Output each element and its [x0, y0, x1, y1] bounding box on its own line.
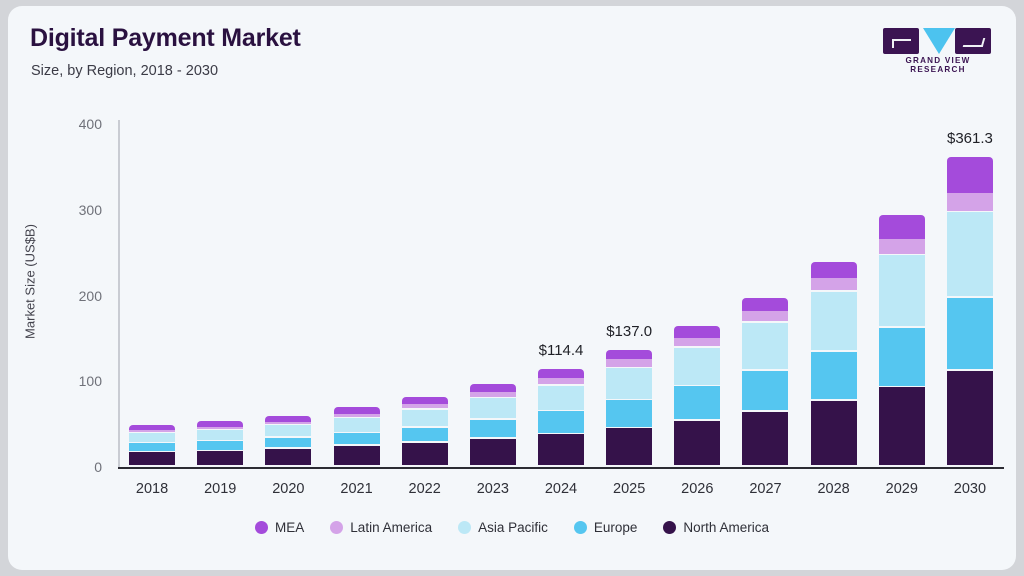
bar-segment[interactable]	[129, 430, 175, 431]
legend-item[interactable]: North America	[663, 520, 769, 535]
stacked-bar[interactable]	[334, 407, 380, 467]
bar-segment[interactable]	[538, 434, 584, 465]
bar-segment[interactable]	[674, 386, 720, 419]
bar-segment[interactable]	[879, 239, 925, 254]
bar-segment[interactable]	[470, 420, 516, 437]
bar-segment[interactable]	[197, 451, 243, 465]
stacked-bar[interactable]	[129, 425, 175, 467]
stacked-bar[interactable]	[879, 215, 925, 467]
bar-segment[interactable]	[197, 427, 243, 429]
stacked-bar[interactable]	[742, 298, 788, 467]
bar-segment[interactable]	[606, 428, 652, 465]
bar-segment[interactable]	[334, 433, 380, 444]
x-axis-tick-label: 2028	[817, 481, 849, 497]
bar-segment[interactable]	[334, 407, 380, 414]
bar-segment[interactable]	[606, 350, 652, 360]
x-axis-tick-label: 2027	[749, 481, 781, 497]
x-axis-tick-label: 2018	[136, 481, 168, 497]
bar-segment[interactable]	[674, 326, 720, 337]
y-axis-tick-label: 400	[46, 116, 102, 132]
bar-segment[interactable]	[606, 368, 652, 398]
bar-value-label: $114.4	[539, 342, 584, 359]
stacked-bar[interactable]	[811, 262, 857, 467]
chart-card: Digital Payment Market Size, by Region, …	[8, 6, 1016, 570]
y-axis-title: Market Size (US$B)	[23, 182, 38, 382]
bar-value-label: $137.0	[606, 323, 652, 340]
bar-segment[interactable]	[129, 433, 175, 442]
y-axis-tick-label: 100	[46, 373, 102, 389]
x-axis-tick-label: 2030	[954, 481, 986, 497]
bar-segment[interactable]	[674, 421, 720, 466]
x-axis-tick-label: 2021	[340, 481, 372, 497]
stacked-bar[interactable]	[265, 416, 311, 467]
bar-segment[interactable]	[265, 425, 311, 436]
y-axis-line	[118, 120, 120, 468]
bar-segment[interactable]	[742, 298, 788, 311]
bar-segment[interactable]	[606, 400, 652, 427]
bar-segment[interactable]	[606, 359, 652, 366]
x-axis-tick-label: 2029	[886, 481, 918, 497]
bar-segment[interactable]	[674, 338, 720, 347]
x-axis-tick-label: 2024	[545, 481, 577, 497]
stacked-bar[interactable]	[402, 397, 448, 467]
bar-segment[interactable]	[947, 212, 993, 296]
bar-segment[interactable]	[674, 348, 720, 385]
bar-segment[interactable]	[879, 387, 925, 465]
bar-segment[interactable]	[947, 298, 993, 369]
y-axis-tick-label: 0	[46, 459, 102, 475]
bar-segment[interactable]	[197, 441, 243, 449]
bar-segment[interactable]	[947, 193, 993, 210]
bar-segment[interactable]	[334, 418, 380, 431]
legend-label: MEA	[275, 520, 304, 535]
bar-segment[interactable]	[265, 449, 311, 465]
bar-segment[interactable]	[811, 262, 857, 277]
bar-segment[interactable]	[538, 369, 584, 378]
bar-segment[interactable]	[879, 255, 925, 326]
bar-value-label: $361.3	[947, 130, 993, 147]
bar-segment[interactable]	[538, 378, 584, 384]
bar-segment[interactable]	[402, 404, 448, 408]
x-axis-tick-label: 2023	[477, 481, 509, 497]
stacked-bar[interactable]	[538, 369, 584, 467]
bar-segment[interactable]	[470, 392, 516, 397]
bar-segment[interactable]	[129, 425, 175, 430]
bar-segment[interactable]	[402, 410, 448, 426]
legend-swatch-icon	[663, 521, 676, 534]
legend-swatch-icon	[330, 521, 343, 534]
bar-segment[interactable]	[538, 386, 584, 410]
legend-item[interactable]: Europe	[574, 520, 638, 535]
bar-segment[interactable]	[470, 384, 516, 392]
y-axis-tick-label: 300	[46, 202, 102, 218]
x-axis-tick-label: 2025	[613, 481, 645, 497]
bar-segment[interactable]	[470, 398, 516, 418]
legend-label: Latin America	[350, 520, 432, 535]
bar-segment[interactable]	[947, 371, 993, 465]
bar-segment[interactable]	[334, 414, 380, 417]
bar-segment[interactable]	[402, 428, 448, 441]
bar-segment[interactable]	[742, 371, 788, 411]
bar-segment[interactable]	[265, 422, 311, 424]
x-axis-tick-label: 2019	[204, 481, 236, 497]
bar-segment[interactable]	[402, 443, 448, 466]
bar-segment[interactable]	[811, 352, 857, 399]
x-axis-tick-label: 2022	[409, 481, 441, 497]
legend-item[interactable]: MEA	[255, 520, 304, 535]
legend-swatch-icon	[458, 521, 471, 534]
bar-segment[interactable]	[334, 446, 380, 465]
x-axis-tick-label: 2026	[681, 481, 713, 497]
legend-label: Europe	[594, 520, 638, 535]
bar-segment[interactable]	[265, 438, 311, 448]
bar-segment[interactable]	[538, 411, 584, 433]
bar-segment[interactable]	[470, 439, 516, 466]
x-axis-tick-label: 2020	[272, 481, 304, 497]
bar-segment[interactable]	[811, 401, 857, 465]
legend-item[interactable]: Asia Pacific	[458, 520, 548, 535]
y-axis-tick-label: 200	[46, 288, 102, 304]
stacked-bar[interactable]	[947, 157, 993, 467]
bar-segment[interactable]	[129, 443, 175, 450]
x-axis-line	[118, 467, 1004, 469]
legend-swatch-icon	[255, 521, 268, 534]
bar-segment[interactable]	[265, 416, 311, 422]
bar-segment[interactable]	[947, 157, 993, 193]
bar-segment[interactable]	[197, 421, 243, 427]
bar-segment[interactable]	[402, 397, 448, 405]
bar-segment[interactable]	[879, 215, 925, 239]
stacked-bar[interactable]	[197, 421, 243, 467]
bar-segment[interactable]	[811, 278, 857, 291]
bar-segment[interactable]	[129, 452, 175, 465]
legend-label: North America	[683, 520, 769, 535]
bar-chart-plot: Market Size (US$B) 0100200300400 2018201…	[8, 6, 1016, 570]
chart-legend: MEALatin AmericaAsia PacificEuropeNorth …	[8, 520, 1016, 535]
bar-segment[interactable]	[742, 311, 788, 321]
bar-segment[interactable]	[879, 328, 925, 386]
legend-label: Asia Pacific	[478, 520, 548, 535]
bar-segment[interactable]	[197, 430, 243, 440]
legend-swatch-icon	[574, 521, 587, 534]
stacked-bar[interactable]	[470, 384, 516, 467]
bar-segment[interactable]	[742, 323, 788, 369]
bar-segment[interactable]	[811, 292, 857, 350]
stacked-bar[interactable]	[674, 326, 720, 467]
legend-item[interactable]: Latin America	[330, 520, 432, 535]
bar-segment[interactable]	[742, 412, 788, 465]
stacked-bar[interactable]	[606, 350, 652, 467]
